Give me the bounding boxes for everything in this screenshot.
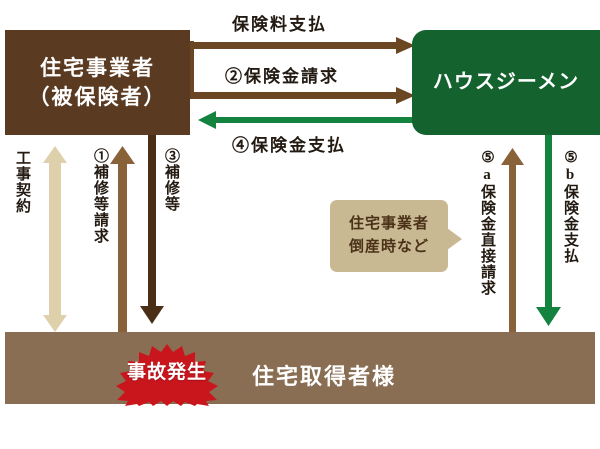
flow-label-premium-payment: 保険料支払 xyxy=(232,10,327,35)
flow-label-construction-contract: 工事契約 xyxy=(14,150,29,214)
flow-label-insurance-payout: ④保険金支払 xyxy=(232,131,346,156)
node-builder[interactable]: 住宅事業者 （被保険者） xyxy=(5,30,190,135)
callout-tail-icon xyxy=(447,228,462,250)
callout-bankruptcy: 住宅事業者 倒産時など xyxy=(330,200,448,272)
arrow-repair-work xyxy=(140,135,164,324)
arrow-repair-request xyxy=(110,146,135,333)
callout-line1: 住宅事業者 xyxy=(349,213,429,236)
flow-label-direct-claim: ⑤a保険金直接請求 xyxy=(479,148,494,296)
node-insurer[interactable]: ハウスジーメン xyxy=(412,30,600,135)
flow-label-direct-payout: ⑤b保険金支払 xyxy=(562,148,577,264)
node-builder-line2: （被保険者） xyxy=(29,83,167,111)
arrow-insurance-payout xyxy=(198,111,416,129)
node-owner-label: 住宅取得者様 xyxy=(252,359,396,391)
insurance-flow-diagram: 住宅事業者 （被保険者） ハウスジーメン 事故発生 住宅取得者様 保険料支払 ②… xyxy=(0,0,600,449)
callout-line2: 倒産時など xyxy=(349,236,429,259)
node-insurer-label: ハウスジーメン xyxy=(433,69,579,96)
arrow-construction-contract xyxy=(43,146,67,332)
flow-label-repair-request: ①補修等請求 xyxy=(92,148,107,244)
node-builder-line1: 住宅事業者 xyxy=(40,54,155,82)
arrow-insurance-claim xyxy=(188,87,415,104)
flow-label-insurance-claim: ②保険金請求 xyxy=(225,62,339,87)
flow-label-repair-work: ③補修等 xyxy=(163,148,178,212)
accident-burst-label: 事故発生 xyxy=(103,357,231,384)
arrow-direct-payout xyxy=(536,135,561,326)
arrow-direct-claim xyxy=(501,148,524,333)
